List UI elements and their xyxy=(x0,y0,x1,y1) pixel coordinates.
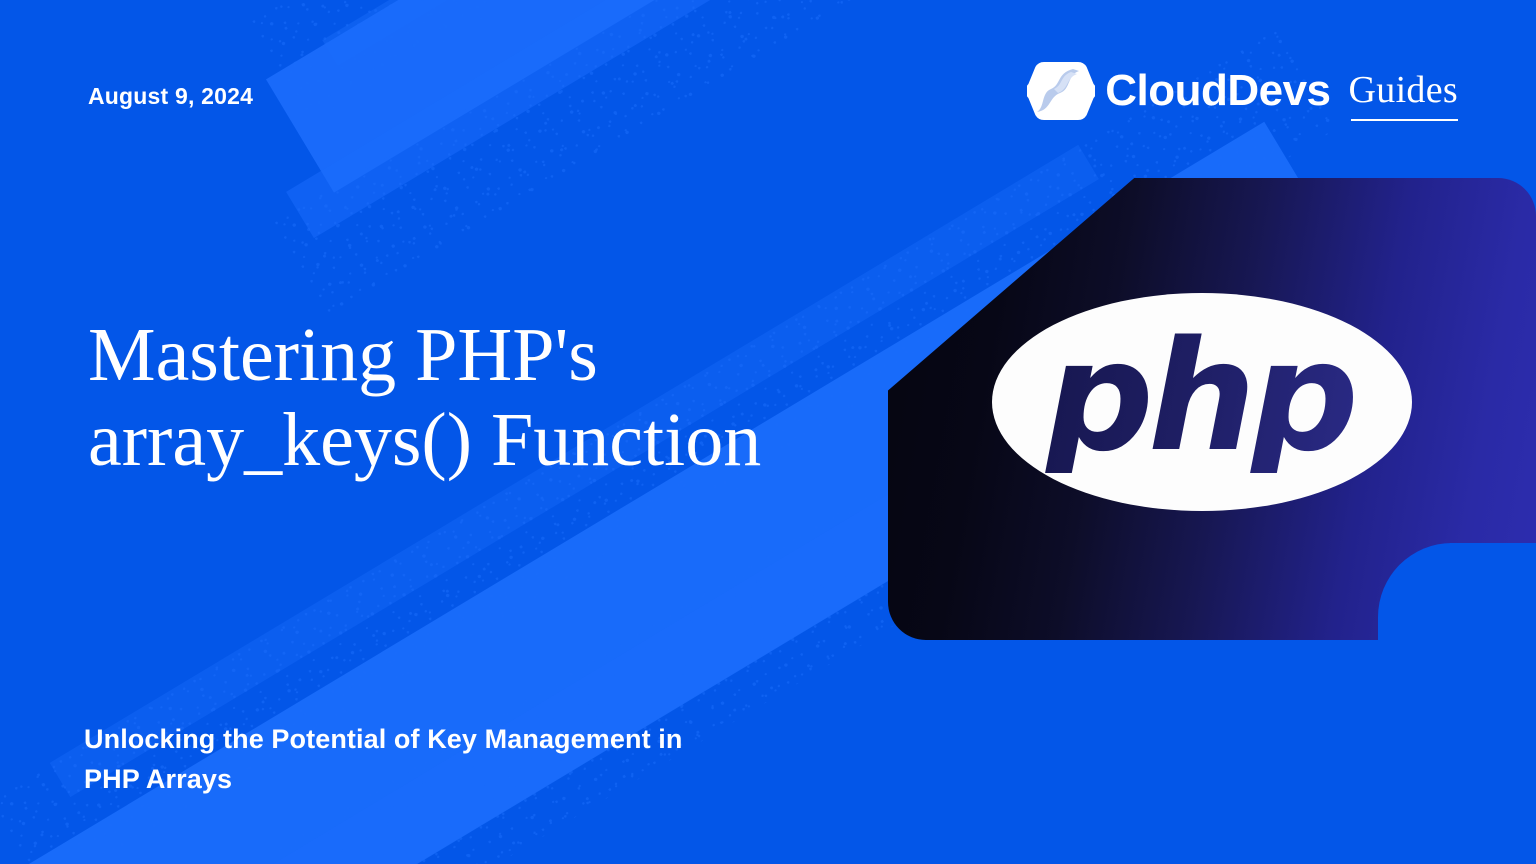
page-title: Mastering PHP's array_keys() Function xyxy=(88,313,878,483)
page-subtitle: Unlocking the Potential of Key Managemen… xyxy=(84,720,844,800)
page-subtitle-line-2: PHP Arrays xyxy=(84,760,844,800)
logo-suffix-guides: Guides xyxy=(1349,69,1458,111)
brush-stroke-top-thin xyxy=(322,0,1536,66)
page-title-line-1: Mastering PHP's xyxy=(88,313,878,398)
php-card-notch-fill xyxy=(1450,543,1536,673)
logo-wordmark: CloudDevs xyxy=(1105,69,1330,113)
logo-suffix-underline xyxy=(1351,119,1458,121)
slide-date: August 9, 2024 xyxy=(88,83,253,110)
clouddevs-hexagon-swoosh-icon xyxy=(1027,60,1095,122)
logo-suffix-wrap: Guides xyxy=(1349,71,1458,111)
presentation-slide: August 9, 2024 CloudDevs Guides Masterin… xyxy=(0,0,1536,864)
page-title-line-2: array_keys() Function xyxy=(88,398,878,483)
clouddevs-logo[interactable]: CloudDevs Guides xyxy=(1027,60,1458,122)
php-logo-text: php xyxy=(1045,321,1359,473)
page-subtitle-line-1: Unlocking the Potential of Key Managemen… xyxy=(84,720,844,760)
php-logo-ellipse: php xyxy=(992,293,1412,511)
